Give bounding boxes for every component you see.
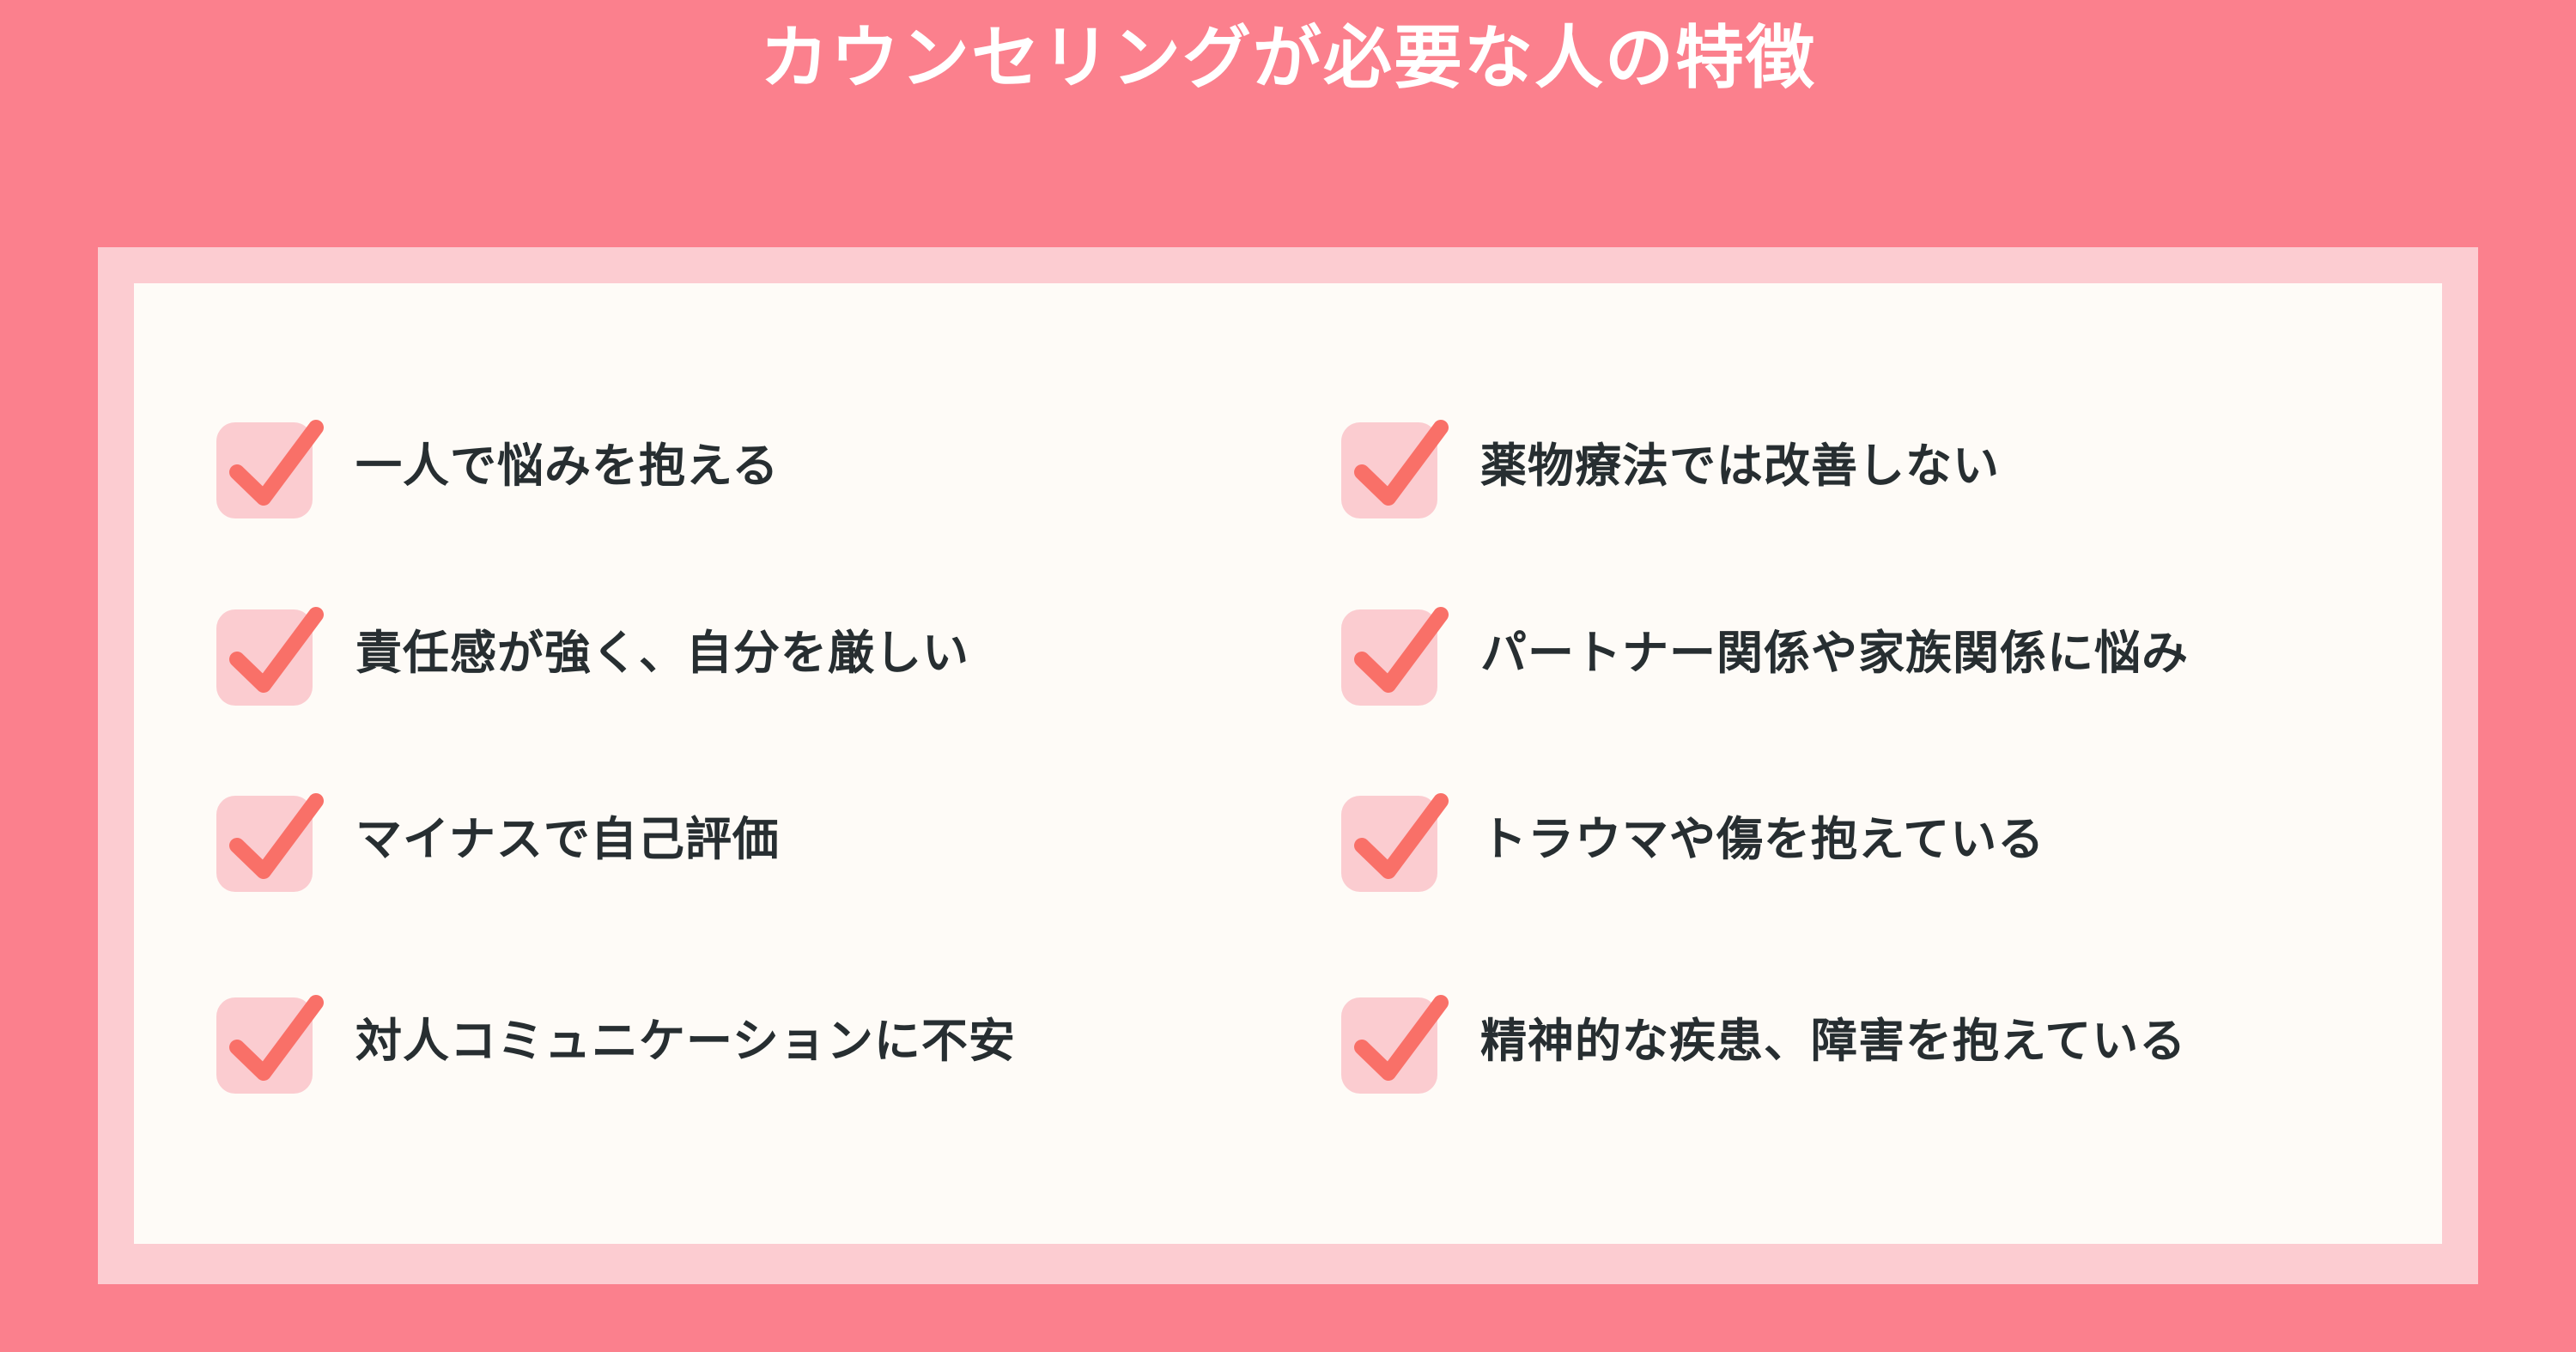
list-item-label: 対人コミュニケーションに不安 <box>355 1018 1016 1068</box>
check-mark-icon <box>215 789 319 894</box>
list-item[interactable]: 一人で悩みを抱える <box>215 412 779 524</box>
list-item[interactable]: 精神的な疾患、障害を抱えている <box>1340 987 2186 1099</box>
list-item[interactable]: マイナスで自己評価 <box>215 785 780 897</box>
list-item-label: 薬物療法では改善しない <box>1480 443 2000 493</box>
check-mark-icon <box>215 415 319 520</box>
checklist: 一人で悩みを抱える 責任感が強く、自分を厳しい <box>134 283 2442 1244</box>
list-item-label: 責任感が強く、自分を厳しい <box>355 630 969 680</box>
poster-canvas: カウンセリングが必要な人の特徴 一人で悩みを抱える <box>0 0 2576 1352</box>
check-mark-icon <box>1340 789 1444 894</box>
check-mark-icon <box>215 991 319 1095</box>
list-item[interactable]: 責任感が強く、自分を厳しい <box>215 599 969 711</box>
list-item-label: トラウマや傷を抱えている <box>1480 816 2044 866</box>
list-item-label: 一人で悩みを抱える <box>355 443 779 493</box>
check-mark-icon <box>215 603 319 707</box>
page-title: カウンセリングが必要な人の特徴 <box>0 19 2576 98</box>
check-mark-icon <box>1340 415 1444 520</box>
checklist-column-left: 一人で悩みを抱える 責任感が強く、自分を厳しい <box>215 283 1357 1244</box>
check-mark-icon <box>1340 603 1444 707</box>
list-item[interactable]: パートナー関係や家族関係に悩み <box>1340 599 2189 711</box>
list-item[interactable]: 薬物療法では改善しない <box>1340 412 2000 524</box>
list-item-label: マイナスで自己評価 <box>355 816 780 866</box>
list-item-label: 精神的な疾患、障害を抱えている <box>1480 1018 2186 1068</box>
checklist-column-right: 薬物療法では改善しない パートナー関係や家族関係に悩み <box>1340 283 2482 1244</box>
list-item[interactable]: トラウマや傷を抱えている <box>1340 785 2044 897</box>
list-item[interactable]: 対人コミュニケーションに不安 <box>215 987 1016 1099</box>
list-item-label: パートナー関係や家族関係に悩み <box>1480 630 2189 680</box>
check-mark-icon <box>1340 991 1444 1095</box>
